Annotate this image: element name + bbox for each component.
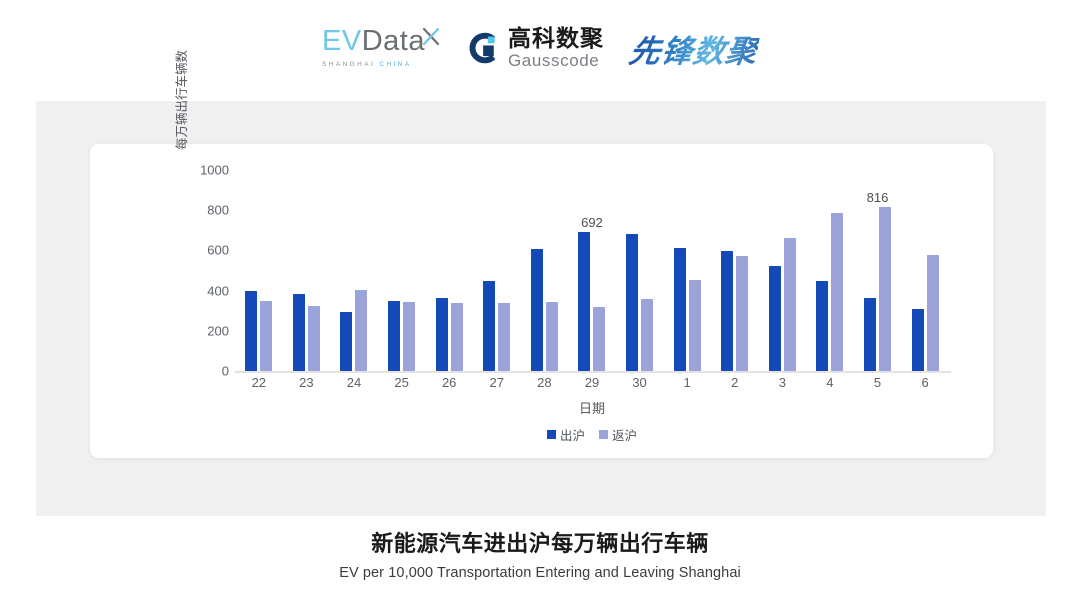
bar-group	[473, 170, 521, 371]
legend-swatch-icon	[599, 430, 608, 439]
x-tick-label: 3	[759, 375, 807, 390]
x-tick-label: 22	[235, 375, 283, 390]
bar-group: 692	[568, 170, 616, 371]
evdata-tagline-china: CHINA	[379, 61, 411, 68]
bar-group: 816	[854, 170, 902, 371]
bar-chuhu[interactable]	[436, 298, 448, 371]
bar-fanhu[interactable]	[831, 213, 843, 371]
gausscode-c-icon	[467, 31, 501, 65]
bar-chuhu[interactable]	[483, 281, 495, 371]
bar-fanhu[interactable]	[593, 307, 605, 371]
legend-label: 出沪	[560, 425, 585, 444]
bar-group	[759, 170, 807, 371]
bar-fanhu[interactable]	[641, 299, 653, 371]
evdata-ev-text: EV	[322, 25, 362, 57]
bar-fanhu[interactable]	[498, 303, 510, 371]
bar-value-label: 816	[854, 190, 902, 205]
y-axis-title: 每万辆出行车辆数	[172, 20, 188, 180]
x-cross-icon	[421, 27, 441, 47]
bar-chuhu[interactable]	[674, 248, 686, 371]
x-tick-label: 4	[806, 375, 854, 390]
x-tick-label: 28	[521, 375, 569, 390]
bar-chart: 每万辆出行车辆数 10008006004002000 692816 222324…	[90, 144, 993, 458]
gausscode-logo: 高科数聚 Gausscode	[467, 27, 604, 69]
x-axis-ticks: 222324252627282930123456	[235, 375, 949, 390]
bar-chuhu[interactable]	[245, 291, 257, 371]
evdata-data-text: Data	[362, 25, 425, 57]
legend-label: 返沪	[612, 425, 637, 444]
bar-group	[616, 170, 664, 371]
bar-chuhu[interactable]	[340, 312, 352, 371]
plot-area: 692816	[235, 170, 949, 371]
x-tick-label: 26	[425, 375, 473, 390]
bar-fanhu[interactable]	[355, 290, 367, 371]
x-axis-line	[235, 371, 951, 373]
gausscode-en-name: Gausscode	[508, 52, 604, 69]
bar-chuhu[interactable]	[578, 232, 590, 371]
bar-fanhu[interactable]	[308, 306, 320, 371]
caption-chinese: 新能源汽车进出沪每万辆出行车辆	[0, 530, 1080, 558]
chart-panel: 每万辆出行车辆数 10008006004002000 692816 222324…	[36, 101, 1046, 516]
bar-group	[711, 170, 759, 371]
y-axis-ticks: 10008006004002000	[185, 170, 229, 371]
bar-chuhu[interactable]	[531, 249, 543, 371]
bar-fanhu[interactable]	[689, 280, 701, 371]
x-tick-label: 29	[568, 375, 616, 390]
evdata-wordmark: EVData	[322, 27, 425, 56]
xianfeng-logo: 先锋数聚	[626, 26, 761, 71]
bar-group	[330, 170, 378, 371]
bar-fanhu[interactable]	[784, 238, 796, 371]
y-tick-label: 200	[207, 323, 229, 338]
x-tick-label: 6	[901, 375, 949, 390]
bar-fanhu[interactable]	[736, 256, 748, 371]
bar-chuhu[interactable]	[912, 309, 924, 371]
y-tick-label: 1000	[200, 163, 229, 178]
bar-chuhu[interactable]	[769, 266, 781, 371]
bar-fanhu[interactable]	[403, 302, 415, 371]
chart-card: 每万辆出行车辆数 10008006004002000 692816 222324…	[90, 144, 993, 458]
evdata-tagline-shanghai: SHANGHAI	[322, 61, 375, 68]
caption-english: EV per 10,000 Transportation Entering an…	[0, 564, 1080, 582]
y-tick-label: 0	[222, 364, 229, 379]
bar-chuhu[interactable]	[721, 251, 733, 371]
bar-fanhu[interactable]	[879, 207, 891, 371]
x-tick-label: 30	[616, 375, 664, 390]
chart-legend: 出沪返沪	[235, 425, 949, 444]
legend-swatch-icon	[547, 430, 556, 439]
x-tick-label: 24	[330, 375, 378, 390]
bar-fanhu[interactable]	[546, 302, 558, 371]
bar-chuhu[interactable]	[293, 294, 305, 371]
bar-groups: 692816	[235, 170, 949, 371]
bar-chuhu[interactable]	[626, 234, 638, 371]
bar-group	[378, 170, 426, 371]
bar-chuhu[interactable]	[816, 281, 828, 371]
bar-group	[806, 170, 854, 371]
gausscode-cn-name: 高科数聚	[508, 27, 604, 50]
bar-fanhu[interactable]	[927, 255, 939, 371]
bar-chuhu[interactable]	[864, 298, 876, 371]
caption-block: 新能源汽车进出沪每万辆出行车辆 EV per 10,000 Transporta…	[0, 530, 1080, 582]
bar-group	[521, 170, 569, 371]
bar-value-label: 692	[568, 215, 616, 230]
x-tick-label: 5	[854, 375, 902, 390]
evdata-tagline: SHANGHAI CHINA	[322, 62, 412, 69]
bar-fanhu[interactable]	[260, 301, 272, 371]
legend-item[interactable]: 出沪	[547, 425, 585, 444]
x-tick-label: 27	[473, 375, 521, 390]
y-tick-label: 400	[207, 283, 229, 298]
gausscode-text: 高科数聚 Gausscode	[508, 27, 604, 69]
x-tick-label: 23	[283, 375, 331, 390]
evdata-logo: EVData SHANGHAI CHINA	[322, 27, 441, 69]
legend-item[interactable]: 返沪	[599, 425, 637, 444]
x-tick-label: 1	[663, 375, 711, 390]
y-tick-label: 800	[207, 203, 229, 218]
bar-group	[901, 170, 949, 371]
y-tick-label: 600	[207, 243, 229, 258]
bar-group	[283, 170, 331, 371]
x-tick-label: 25	[378, 375, 426, 390]
x-axis-title: 日期	[235, 398, 949, 417]
bar-chuhu[interactable]	[388, 301, 400, 371]
bar-group	[663, 170, 711, 371]
x-tick-label: 2	[711, 375, 759, 390]
bar-group	[235, 170, 283, 371]
bar-group	[425, 170, 473, 371]
logo-bar: EVData SHANGHAI CHINA 高科数聚 Gausscode 先锋数…	[0, 0, 1080, 96]
bar-fanhu[interactable]	[451, 303, 463, 371]
